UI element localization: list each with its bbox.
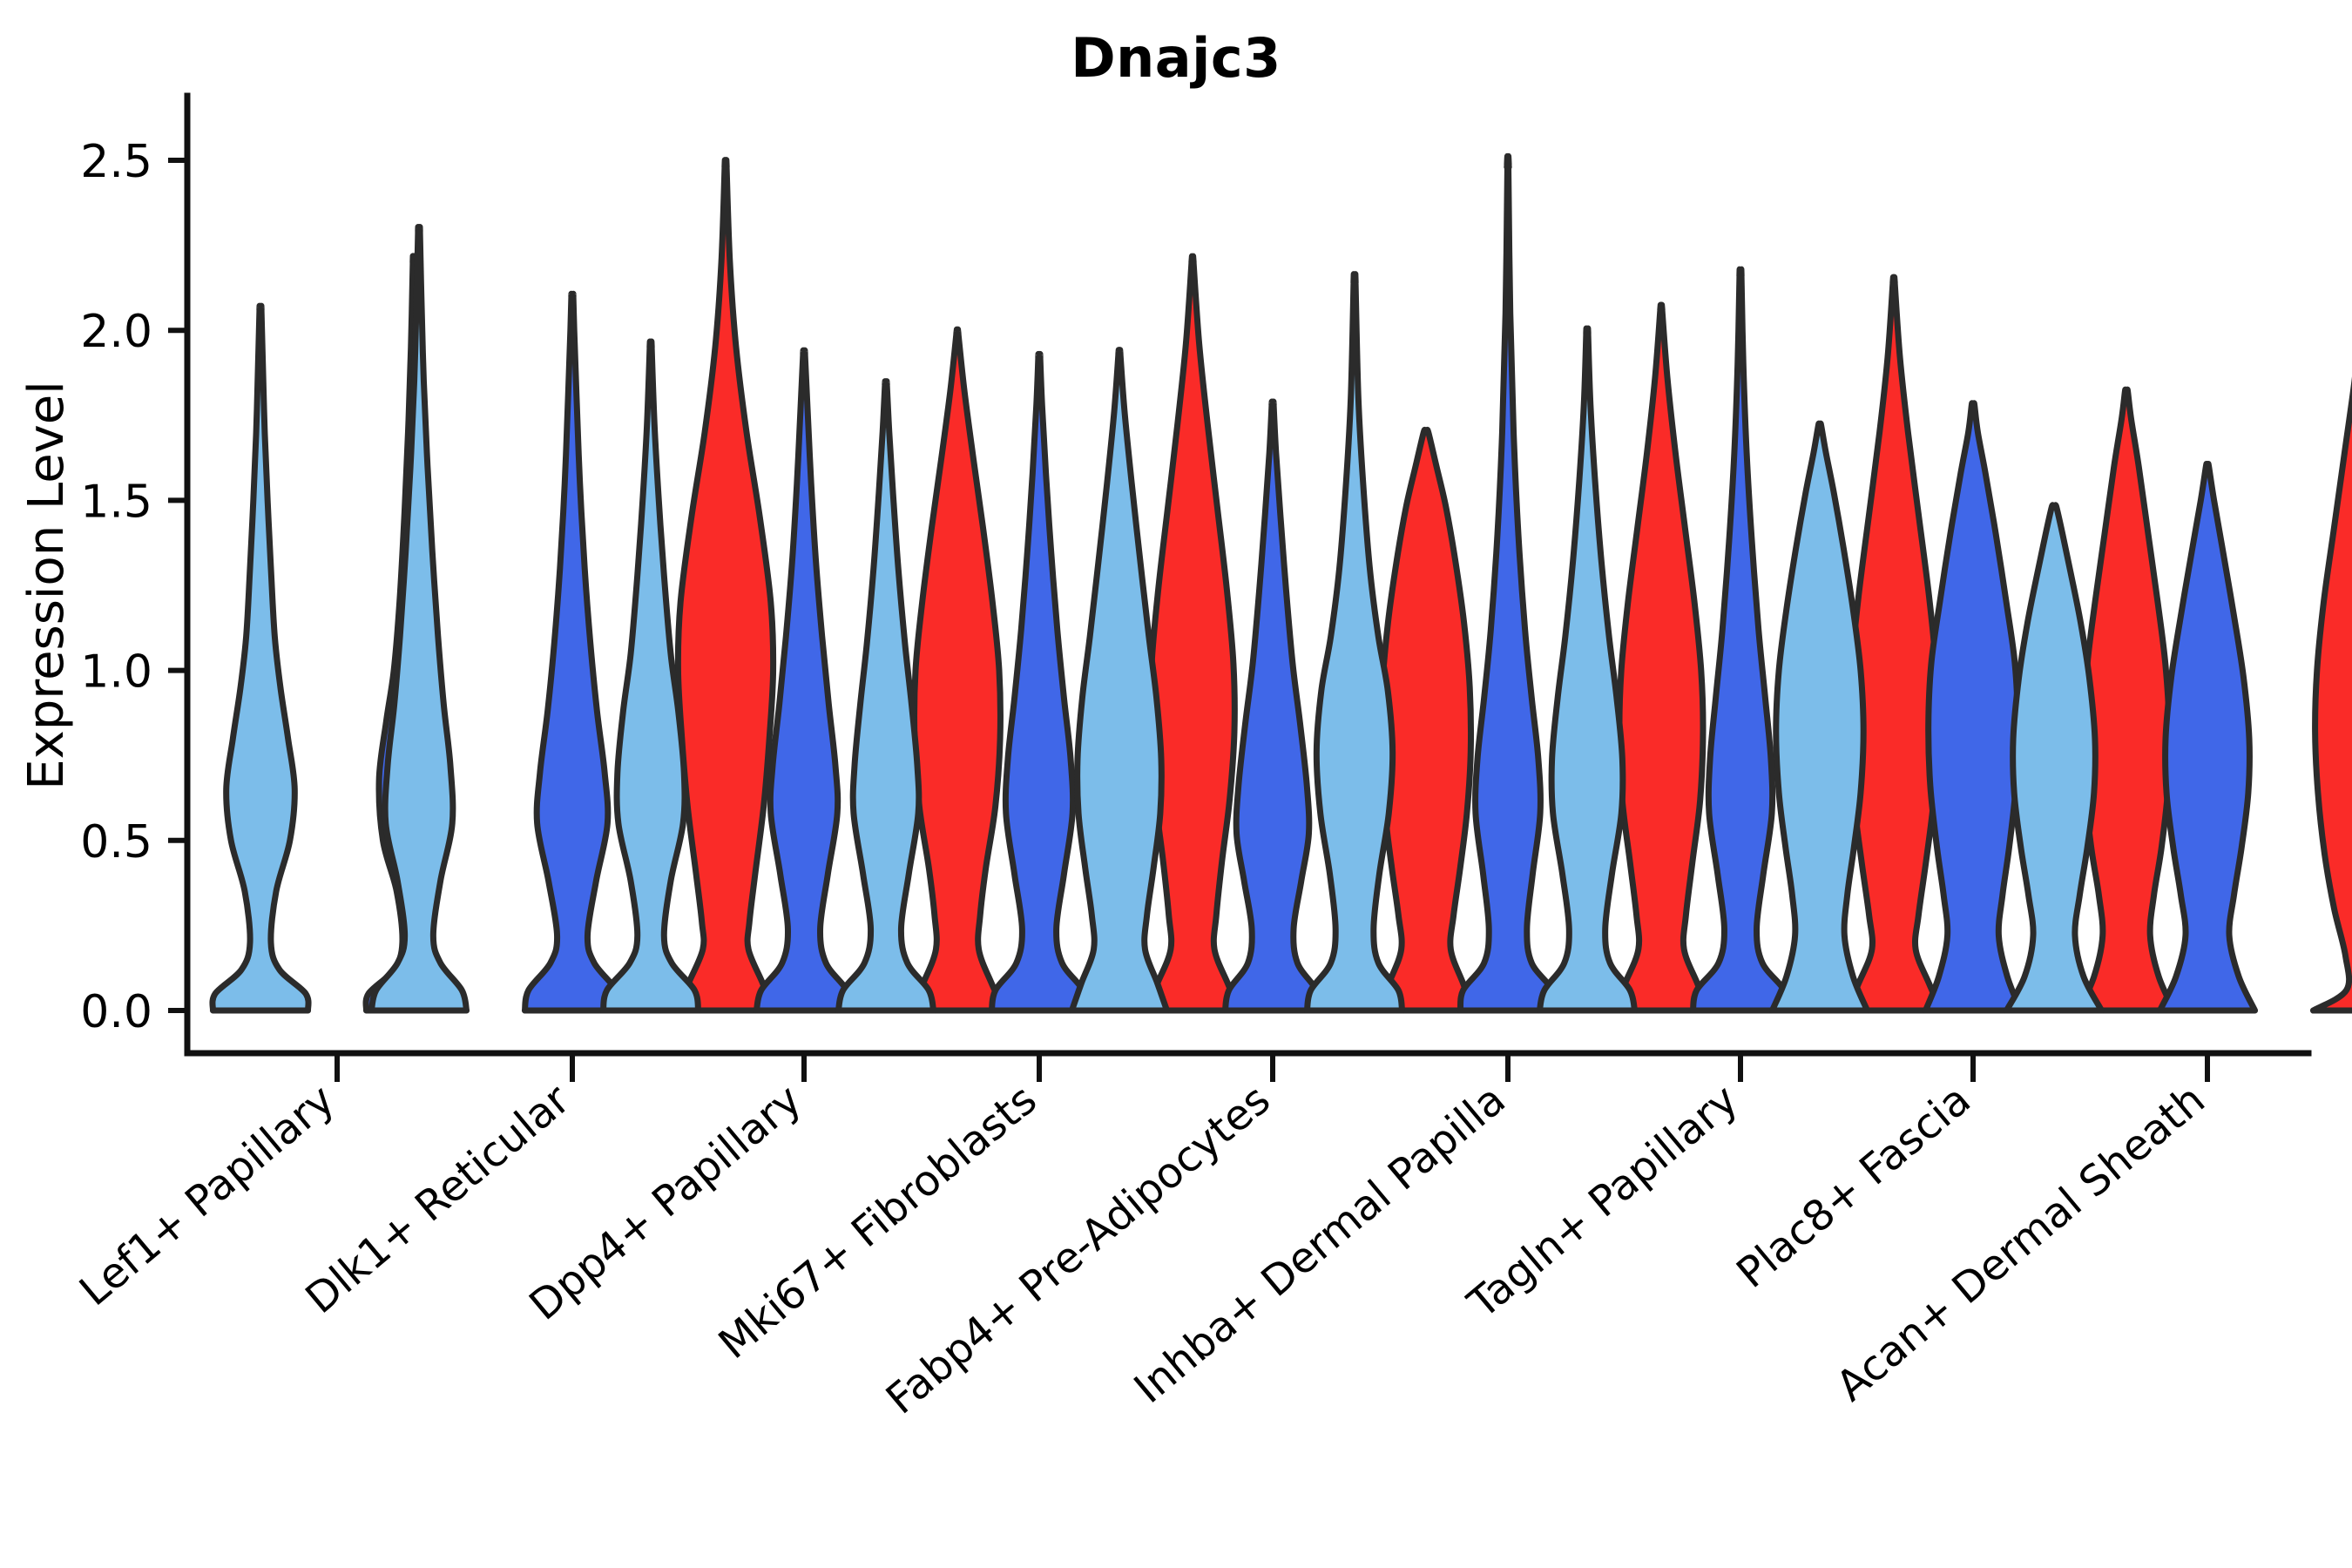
y-tick-label-1: 0.5 xyxy=(80,816,152,868)
violin-plot-canvas: 0.00.51.01.52.02.5Expression LevelLef1+ … xyxy=(0,0,2352,1568)
violin-6-3[interactable] xyxy=(1613,305,1708,1010)
violin-3-3[interactable] xyxy=(909,329,1004,1010)
violin-2-2[interactable] xyxy=(524,294,619,1010)
violin-6-2[interactable] xyxy=(1460,156,1555,1010)
violin-1-1[interactable] xyxy=(213,306,308,1010)
y-tick-label-0: 0.0 xyxy=(80,986,152,1038)
violin-9-2[interactable] xyxy=(2159,463,2254,1010)
violin-9-1[interactable] xyxy=(2006,505,2101,1010)
violins-layer xyxy=(213,156,2352,1010)
violin-4-3[interactable] xyxy=(1145,256,1240,1010)
violin-7-2[interactable] xyxy=(1693,269,1788,1010)
violin-4-2[interactable] xyxy=(991,354,1086,1010)
violin-5-1[interactable] xyxy=(1071,350,1166,1010)
violin-2-3[interactable] xyxy=(678,160,773,1010)
y-tick-label-4: 2.0 xyxy=(80,306,152,358)
violin-2-1[interactable] xyxy=(371,226,466,1010)
x-tick-label-7: Plac8+ Fascia xyxy=(1727,1075,1979,1298)
violin-8-1[interactable] xyxy=(1772,423,1867,1010)
x-tick-label-8: Acan+ Dermal Sheath xyxy=(1827,1075,2213,1410)
violin-5-2[interactable] xyxy=(1225,402,1320,1010)
y-axis-label: Expression Level xyxy=(18,381,75,790)
violin-plot-figure: Dnajc3 0.00.51.01.52.02.5Expression Leve… xyxy=(0,0,2352,1568)
y-tick-label-3: 1.5 xyxy=(80,476,152,528)
x-tick-label-5: Inhba+ Dermal Papilla xyxy=(1125,1075,1515,1413)
violin-9-3[interactable] xyxy=(2313,330,2352,1010)
y-tick-label-5: 2.5 xyxy=(80,136,152,188)
x-tick-label-4: Fabp4+ Pre-Adipocytes xyxy=(877,1075,1280,1423)
y-tick-label-2: 1.0 xyxy=(80,646,152,699)
violin-8-2[interactable] xyxy=(1925,403,2020,1010)
